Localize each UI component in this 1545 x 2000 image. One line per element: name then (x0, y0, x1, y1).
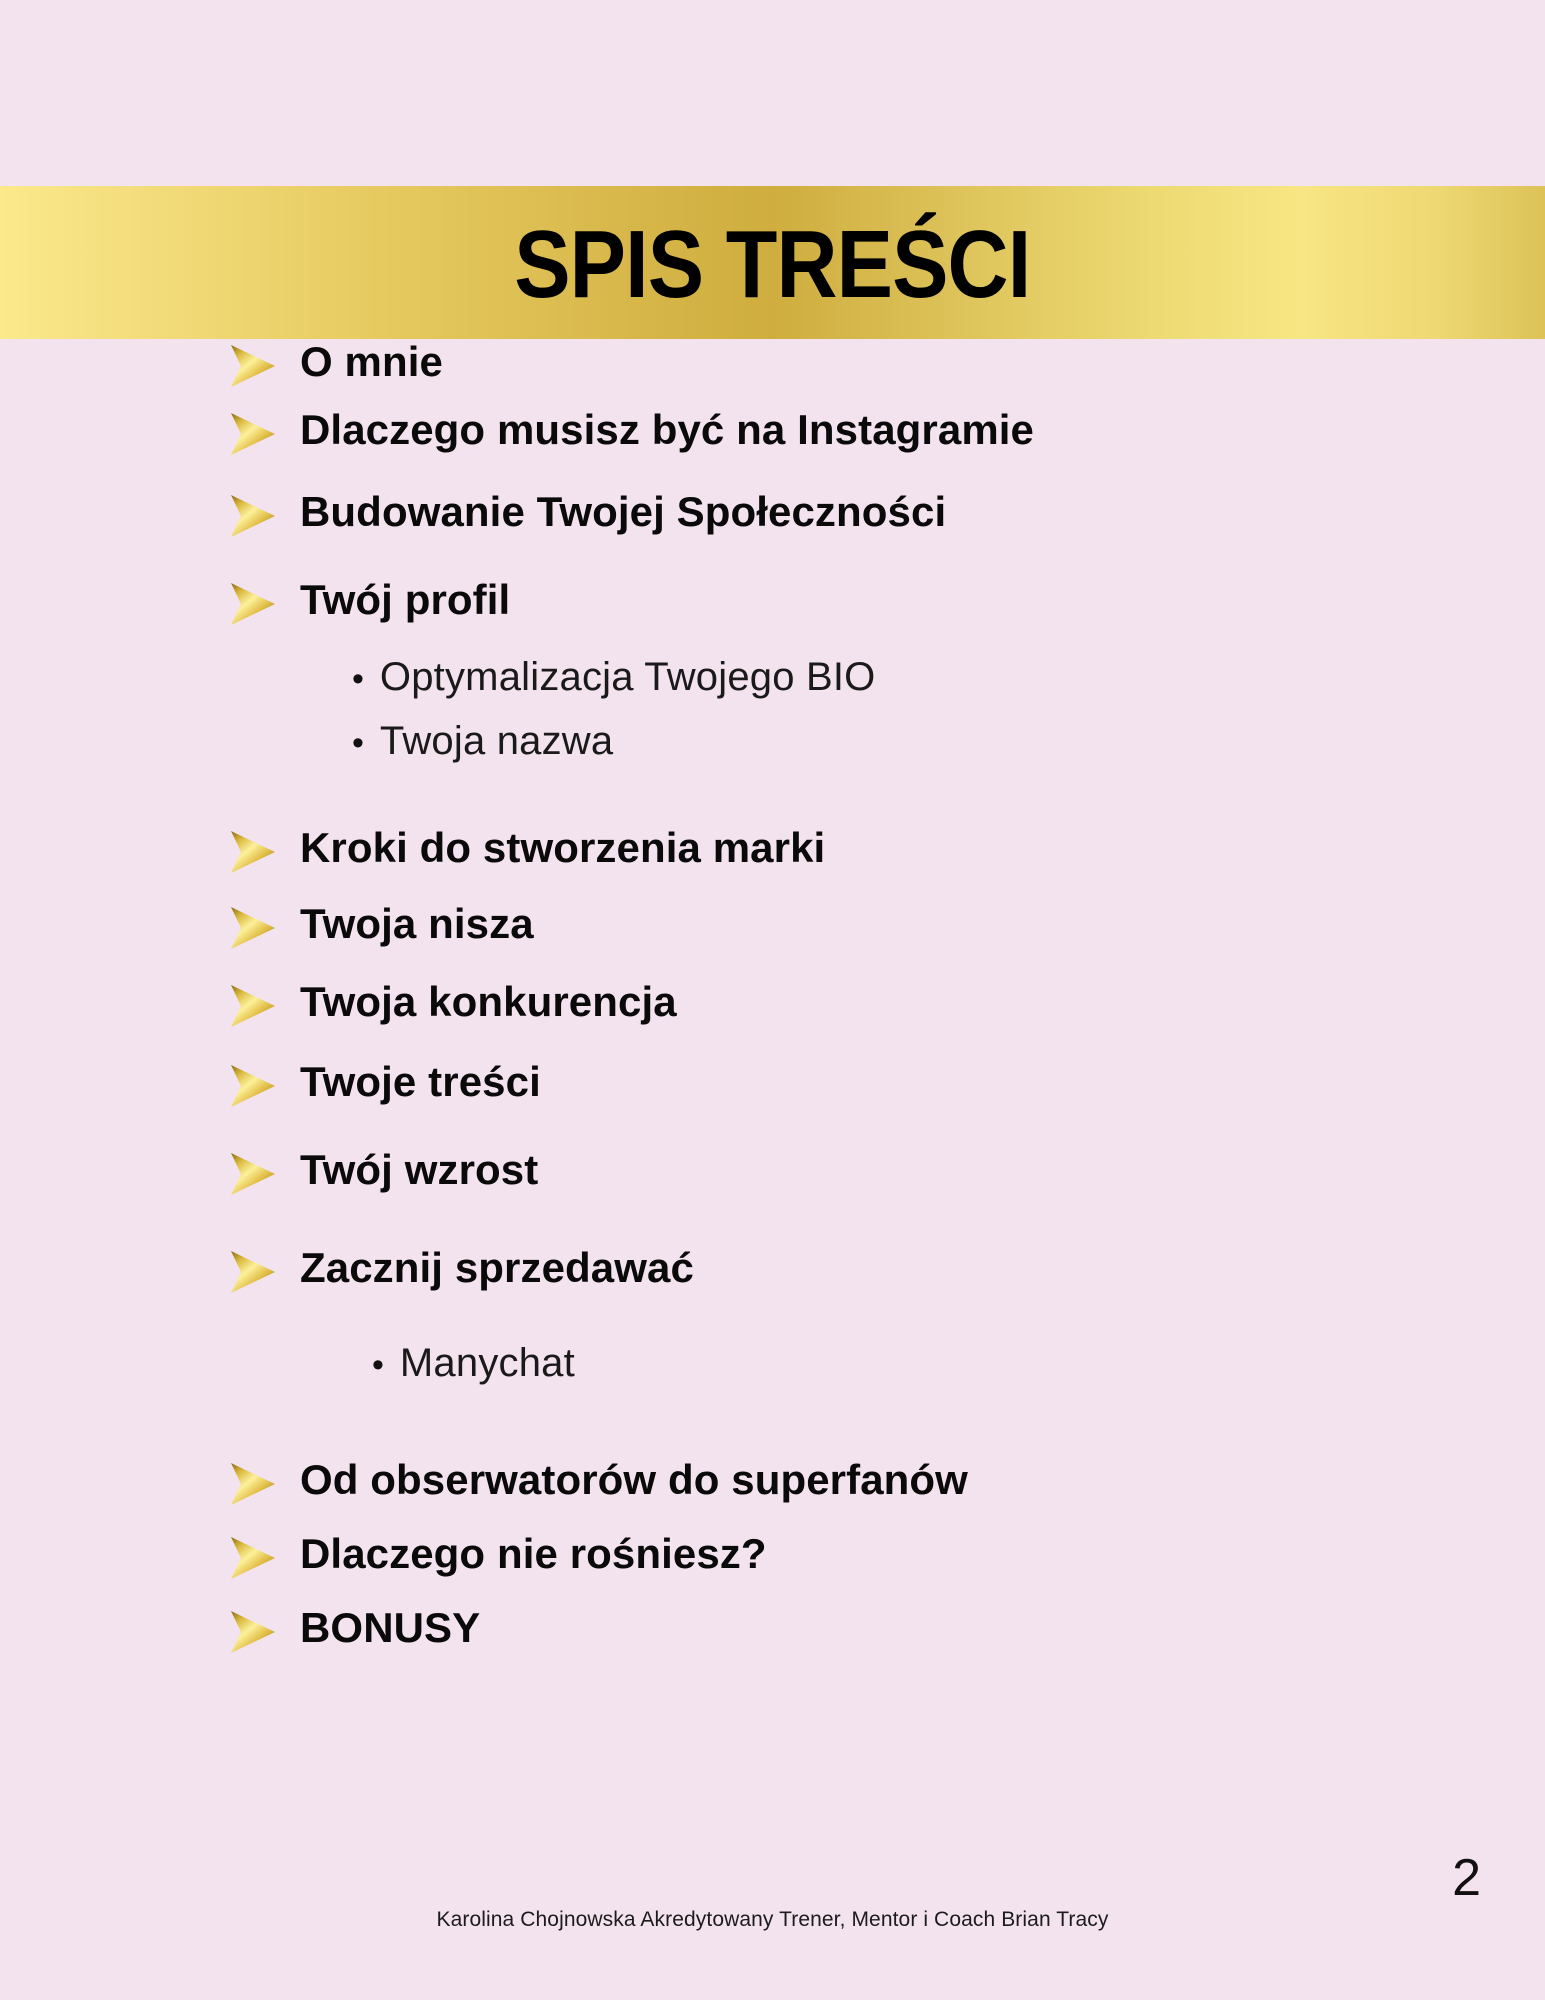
toc-item-twoja-konkurencja[interactable]: Twoja konkurencja (0, 979, 1545, 1029)
page-title: SPIS TREŚCI (514, 217, 1030, 313)
gold-arrow-icon (228, 343, 278, 389)
toc-item-label: Dlaczego musisz być na Instagramie (300, 407, 1034, 453)
gold-arrow-icon (228, 1609, 278, 1655)
toc-item-od-obserwatorow[interactable]: Od obserwatorów do superfanów (0, 1457, 1545, 1507)
toc-item-bonusy[interactable]: BONUSY (0, 1605, 1545, 1655)
gold-arrow-icon (228, 1063, 278, 1109)
header-band: SPIS TREŚCI (0, 186, 1545, 339)
sub-list-twoj-profil: • Optymalizacja Twojego BIO • Twoja nazw… (0, 645, 1545, 773)
gold-arrow-icon (228, 1535, 278, 1581)
sub-item-label: Manychat (400, 1331, 575, 1395)
gold-arrow-icon (228, 1461, 278, 1507)
footer-credit: Karolina Chojnowska Akredytowany Trener,… (0, 1908, 1545, 1932)
list-item[interactable]: • Optymalizacja Twojego BIO (352, 645, 1545, 709)
toc-item-label: Twój wzrost (300, 1147, 538, 1193)
sub-item-label: Twoja nazwa (380, 709, 613, 773)
page-number: 2 (1452, 1848, 1481, 1908)
sub-list-zacznij-sprzedawac: • Manychat (0, 1331, 1545, 1395)
toc-item-o-mnie[interactable]: O mnie (0, 339, 1545, 389)
toc-item-dlaczego-nie-rosniesz[interactable]: Dlaczego nie rośniesz? (0, 1531, 1545, 1581)
toc-item-label: Kroki do stworzenia marki (300, 825, 825, 871)
sub-item-label: Optymalizacja Twojego BIO (380, 645, 876, 709)
toc-item-label: Twój profil (300, 577, 510, 623)
bullet-dot-icon: • (352, 662, 364, 696)
toc-item-label: O mnie (300, 339, 443, 385)
toc-item-label: Twoja nisza (300, 901, 534, 947)
toc-item-twoje-tresci[interactable]: Twoje treści (0, 1059, 1545, 1109)
toc-item-twoj-wzrost[interactable]: Twój wzrost (0, 1147, 1545, 1197)
toc-item-label: Od obserwatorów do superfanów (300, 1457, 968, 1503)
toc-item-label: Twoja konkurencja (300, 979, 677, 1025)
bullet-dot-icon: • (352, 726, 364, 760)
gold-arrow-icon (228, 493, 278, 539)
gold-arrow-icon (228, 905, 278, 951)
table-of-contents: O mnie Dlaczego musisz być na Instagrami… (0, 339, 1545, 1655)
toc-item-dlaczego-instagram[interactable]: Dlaczego musisz być na Instagramie (0, 407, 1545, 457)
gold-arrow-icon (228, 829, 278, 875)
toc-item-zacznij-sprzedawac[interactable]: Zacznij sprzedawać (0, 1245, 1545, 1295)
gold-arrow-icon (228, 1249, 278, 1295)
bullet-dot-icon: • (372, 1348, 384, 1382)
toc-item-twoj-profil[interactable]: Twój profil (0, 577, 1545, 627)
gold-arrow-icon (228, 983, 278, 1029)
toc-item-label: Zacznij sprzedawać (300, 1245, 694, 1291)
toc-item-budowanie-spolecznosci[interactable]: Budowanie Twojej Społeczności (0, 489, 1545, 539)
toc-item-label: Twoje treści (300, 1059, 541, 1105)
page-canvas: SPIS TREŚCI (0, 0, 1545, 2000)
gold-arrow-icon (228, 411, 278, 457)
toc-item-label: BONUSY (300, 1605, 480, 1651)
gold-arrow-icon (228, 581, 278, 627)
gold-arrow-icon (228, 1151, 278, 1197)
toc-item-label: Dlaczego nie rośniesz? (300, 1531, 767, 1577)
toc-item-kroki-marki[interactable]: Kroki do stworzenia marki (0, 825, 1545, 875)
list-item[interactable]: • Twoja nazwa (352, 709, 1545, 773)
list-item[interactable]: • Manychat (372, 1331, 1545, 1395)
toc-item-label: Budowanie Twojej Społeczności (300, 489, 946, 535)
toc-item-twoja-nisza[interactable]: Twoja nisza (0, 901, 1545, 951)
